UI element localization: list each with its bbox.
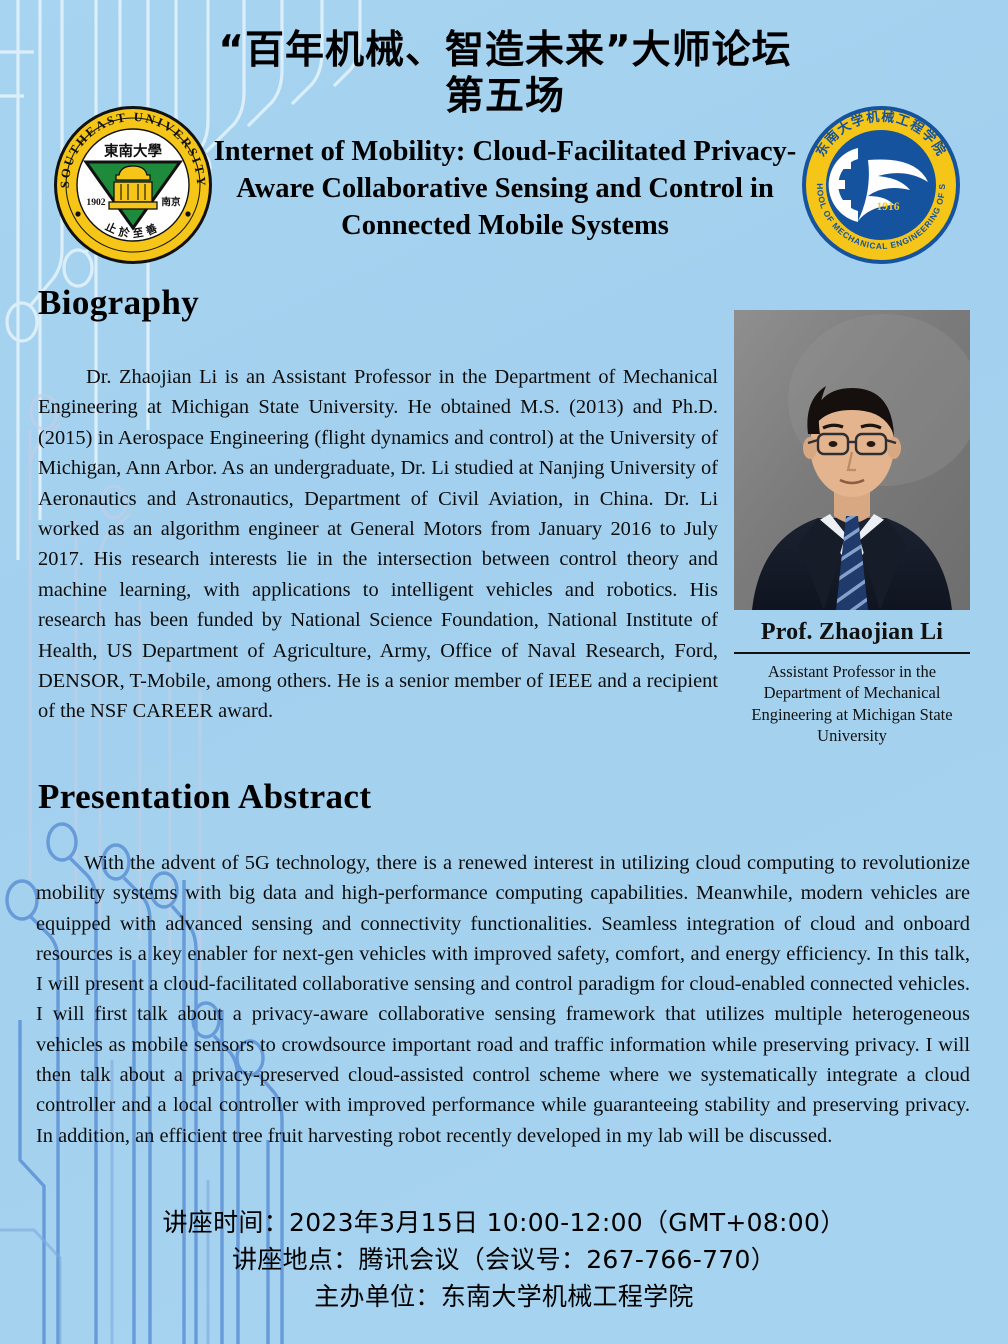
title-chinese-line1: “百年机械、智造未来”大师论坛 [218, 28, 791, 73]
svg-text:1902: 1902 [86, 197, 105, 208]
abstract-section: With the advent of 5G technology, there … [36, 848, 970, 1151]
svg-text:1916: 1916 [877, 201, 900, 213]
svg-text:南京: 南京 [161, 196, 181, 208]
speaker-name: Prof. Zhaojian Li [734, 619, 970, 654]
abstract-text: With the advent of 5G technology, there … [36, 848, 970, 1151]
event-host: 主办单位：东南大学机械工程学院 [0, 1278, 1008, 1315]
speaker-card: Prof. Zhaojian Li Assistant Professor in… [734, 310, 970, 747]
title-chinese-line2: 第五场 [180, 74, 830, 120]
event-location: 讲座地点：腾讯会议（会议号：267-766-770） [0, 1241, 1008, 1278]
speaker-portrait-photo [734, 310, 970, 610]
speaker-affiliation: Assistant Professor in the Department of… [734, 661, 970, 747]
abstract-heading: Presentation Abstract [38, 777, 371, 817]
biography-text: Dr. Zhaojian Li is an Assistant Professo… [38, 362, 718, 727]
event-time: 讲座时间：2023年3月15日 10:00-12:00（GMT+08:00） [0, 1204, 1008, 1241]
biography-heading: Biography [38, 283, 199, 323]
poster-title-block: “百年机械、智造未来”大师论坛 第五场 Internet of Mobility… [180, 28, 830, 244]
title-english: Internet of Mobility: Cloud-Facilitated … [180, 133, 830, 244]
seminar-poster: SOUTHEAST UNIVERSITY 止於至善 東南大學 [0, 0, 1008, 1344]
poster-header: SOUTHEAST UNIVERSITY 止於至善 東南大學 [0, 0, 1008, 290]
svg-text:東南大學: 東南大學 [104, 142, 162, 160]
title-chinese: “百年机械、智造未来”大师论坛 第五场 [180, 28, 830, 120]
event-details: 讲座时间：2023年3月15日 10:00-12:00（GMT+08:00） 讲… [0, 1204, 1008, 1315]
biography-section: Dr. Zhaojian Li is an Assistant Professo… [38, 362, 718, 727]
